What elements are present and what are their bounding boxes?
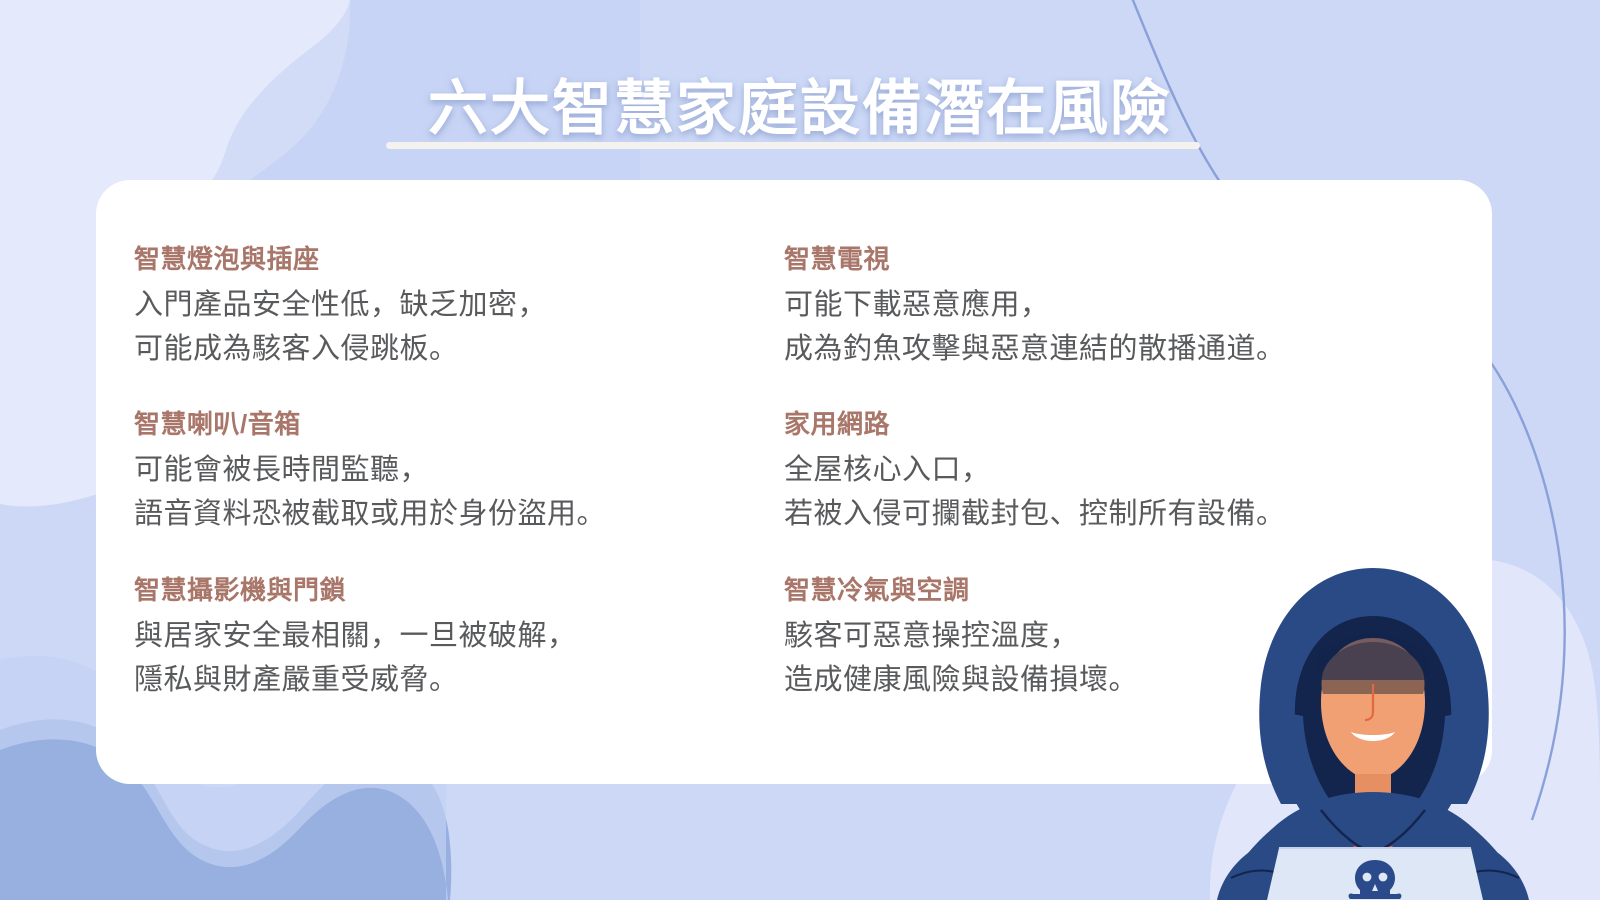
risk-item-heading: 智慧電視 xyxy=(784,242,1472,277)
risk-item-heading: 智慧喇叭/音箱 xyxy=(134,407,764,442)
risk-item-home-network: 家用網路 全屋核心入口， 若被入侵可攔截封包、控制所有設備。 xyxy=(784,407,1492,536)
risk-item-heading: 智慧燈泡與插座 xyxy=(134,242,764,277)
risk-item-line: 隱私與財產嚴重受威脅。 xyxy=(134,658,764,702)
risk-item-smart-bulbs-and-plugs: 智慧燈泡與插座 入門產品安全性低，缺乏加密， 可能成為駭客入侵跳板。 xyxy=(134,242,784,371)
infographic-poster: 六大智慧家庭設備潛在風險 智慧燈泡與插座 入門產品安全性低，缺乏加密， 可能成為… xyxy=(0,0,1600,900)
risk-item-line: 若被入侵可攔截封包、控制所有設備。 xyxy=(784,492,1472,536)
risk-item-line: 與居家安全最相關，一旦被破解， xyxy=(134,614,764,658)
risk-item-heading: 家用網路 xyxy=(784,407,1472,442)
risk-item-line: 可能下載惡意應用， xyxy=(784,283,1472,327)
page-title: 六大智慧家庭設備潛在風險 xyxy=(428,74,1172,143)
risk-item-line: 入門產品安全性低，缺乏加密， xyxy=(134,283,764,327)
risk-item-line: 可能會被長時間監聽， xyxy=(134,448,764,492)
risk-item-smart-tv: 智慧電視 可能下載惡意應用， 成為釣魚攻擊與惡意連結的散播通道。 xyxy=(784,242,1492,371)
risk-item-camera-and-doorlock: 智慧攝影機與門鎖 與居家安全最相關，一旦被破解， 隱私與財產嚴重受威脅。 xyxy=(134,573,784,702)
hooded-hacker-illustration xyxy=(1195,560,1555,900)
risk-item-heading: 智慧攝影機與門鎖 xyxy=(134,573,764,608)
risk-item-line: 語音資料恐被截取或用於身份盜用。 xyxy=(134,492,764,536)
risk-item-line: 成為釣魚攻擊與惡意連結的散播通道。 xyxy=(784,327,1472,371)
risk-item-line: 可能成為駭客入侵跳板。 xyxy=(134,327,764,371)
title-divider xyxy=(386,142,1200,149)
title-block: 六大智慧家庭設備潛在風險 xyxy=(0,34,1600,183)
risk-item-smart-speaker: 智慧喇叭/音箱 可能會被長時間監聽， 語音資料恐被截取或用於身份盜用。 xyxy=(134,407,784,536)
risk-item-line: 全屋核心入口， xyxy=(784,448,1472,492)
